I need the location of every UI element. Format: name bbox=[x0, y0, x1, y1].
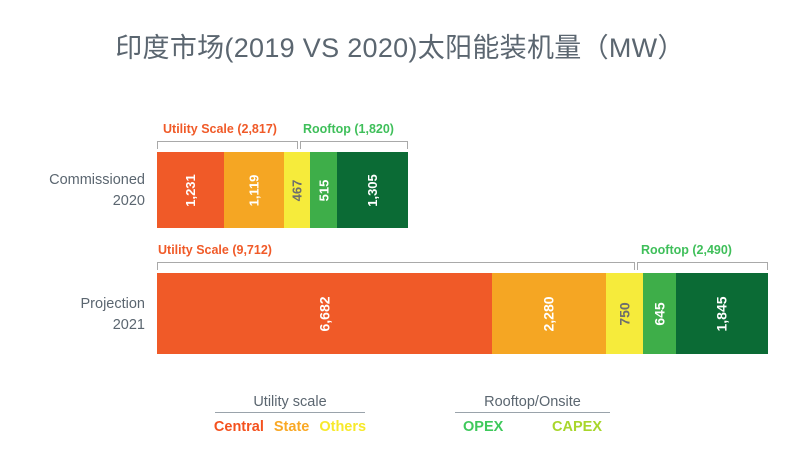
segment-value-state-commissioned: 1,119 bbox=[246, 174, 261, 206]
category-label-line1: Projection bbox=[10, 294, 145, 315]
segment-opex-commissioned: 515 bbox=[310, 152, 338, 228]
segment-value-state-projection: 2,280 bbox=[541, 296, 557, 331]
category-label-line2: 2021 bbox=[10, 315, 145, 336]
segment-value-others-commissioned: 467 bbox=[289, 179, 304, 201]
legend-utility-heading: Utility scale bbox=[215, 394, 365, 413]
segment-value-capex-projection: 1,845 bbox=[714, 296, 730, 331]
segment-value-opex-commissioned: 515 bbox=[316, 179, 331, 201]
segment-value-central-commissioned: 1,231 bbox=[183, 174, 198, 207]
segment-state-commissioned: 1,119 bbox=[224, 152, 285, 228]
utility-group-label-projection: Utility Scale (9,712) bbox=[158, 243, 272, 257]
segment-others-commissioned: 467 bbox=[284, 152, 309, 228]
legend-utility-scale: Utility scale Central State Others bbox=[215, 394, 365, 435]
segment-value-opex-projection: 645 bbox=[651, 302, 667, 325]
legend-rooftop-items: OPEX CAPEX bbox=[455, 419, 610, 435]
category-label-line1: Commissioned bbox=[10, 170, 145, 191]
chart-container: 印度市场(2019 VS 2020)太阳能装机量（MW） Commissione… bbox=[0, 0, 800, 460]
segment-central-projection: 6,682 bbox=[157, 273, 492, 354]
segment-value-central-projection: 6,682 bbox=[316, 296, 332, 331]
segment-capex-commissioned: 1,305 bbox=[337, 152, 408, 228]
legend-item-others[interactable]: Others bbox=[319, 419, 366, 435]
legend-item-central[interactable]: Central bbox=[214, 419, 264, 435]
chart-title: 印度市场(2019 VS 2020)太阳能装机量（MW） bbox=[0, 26, 800, 65]
category-label-commissioned: Commissioned 2020 bbox=[10, 170, 145, 212]
legend-item-opex[interactable]: OPEX bbox=[463, 419, 503, 435]
segment-value-others-projection: 750 bbox=[617, 302, 633, 325]
rooftop-bracket-commissioned bbox=[300, 141, 408, 149]
legend-rooftop-heading: Rooftop/Onsite bbox=[455, 394, 610, 413]
rooftop-group-label-projection: Rooftop (2,490) bbox=[641, 243, 732, 257]
segment-capex-projection: 1,845 bbox=[676, 273, 768, 354]
rooftop-group-label-commissioned: Rooftop (1,820) bbox=[303, 122, 394, 136]
segment-state-projection: 2,280 bbox=[492, 273, 606, 354]
legend-item-state[interactable]: State bbox=[274, 419, 309, 435]
legend-rooftop-onsite: Rooftop/Onsite OPEX CAPEX bbox=[455, 394, 610, 435]
utility-bracket-projection bbox=[157, 262, 635, 270]
category-label-line2: 2020 bbox=[10, 191, 145, 212]
legend-item-capex[interactable]: CAPEX bbox=[552, 419, 602, 435]
segment-value-capex-commissioned: 1,305 bbox=[365, 174, 380, 207]
segment-central-commissioned: 1,231 bbox=[157, 152, 224, 228]
legend-utility-items: Central State Others bbox=[215, 419, 365, 435]
segment-opex-projection: 645 bbox=[643, 273, 675, 354]
category-label-projection: Projection 2021 bbox=[10, 294, 145, 336]
bar-projection: 6,682 2,280 750 645 1,845 bbox=[157, 273, 768, 354]
bar-commissioned: 1,231 1,119 467 515 1,305 bbox=[157, 152, 408, 228]
utility-bracket-commissioned bbox=[157, 141, 298, 149]
segment-others-projection: 750 bbox=[606, 273, 644, 354]
utility-group-label-commissioned: Utility Scale (2,817) bbox=[163, 122, 277, 136]
rooftop-bracket-projection bbox=[637, 262, 768, 270]
